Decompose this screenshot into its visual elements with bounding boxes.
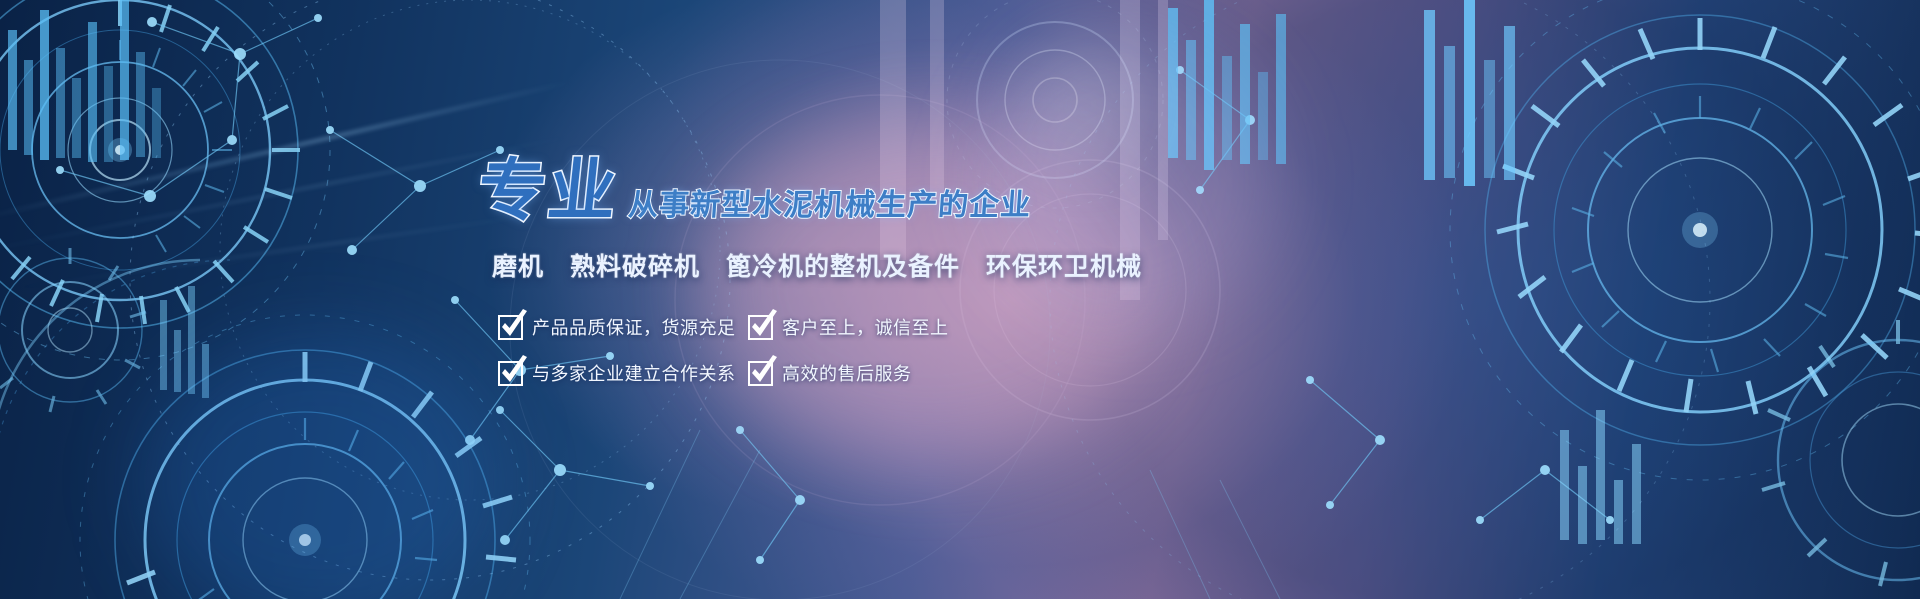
hero-banner: 专业 从事新型水泥机械生产的企业 磨机 熟料破碎机 篦冷机的整机及备件 环保环卫… [0, 0, 1920, 599]
check-icon [748, 315, 773, 340]
arc-band-bottom-left [0, 260, 230, 500]
banner-content: 专业 从事新型水泥机械生产的企业 磨机 熟料破碎机 篦冷机的整机及备件 环保环卫… [478, 152, 1098, 386]
feature-label: 与多家企业建立合作关系 [532, 360, 736, 386]
feature-label: 产品品质保证，货源充足 [532, 314, 736, 340]
bar-stripes-left [8, 0, 209, 398]
gear-ring-graphic-upper-left [0, 248, 146, 412]
headline: 专业 从事新型水泥机械生产的企业 [478, 152, 1098, 226]
gear-ring-graphic-bottom [80, 315, 530, 599]
products-line: 磨机 熟料破碎机 篦冷机的整机及备件 环保环卫机械 [492, 250, 1098, 284]
check-icon [498, 361, 523, 386]
feature-list: 产品品质保证，货源充足 客户至上，诚信至上 与多家企业建立合作关系 [498, 314, 1098, 386]
feature-item: 客户至上，诚信至上 [748, 314, 1098, 340]
grid-lines-graphic [620, 430, 1280, 599]
check-icon [498, 315, 523, 340]
feature-item: 与多家企业建立合作关系 [498, 360, 748, 386]
gear-ring-graphic-far-right [1762, 320, 1920, 586]
feature-label: 高效的售后服务 [782, 360, 912, 386]
feature-item: 产品品质保证，货源充足 [498, 314, 748, 340]
bar-stripes-right [1168, 0, 1641, 544]
headline-emphasis: 专业 [474, 158, 621, 226]
feature-label: 客户至上，诚信至上 [782, 314, 949, 340]
feature-item: 高效的售后服务 [748, 360, 1098, 386]
check-icon [748, 361, 773, 386]
gear-ring-graphic-right [1450, 0, 1920, 480]
headline-rest: 从事新型水泥机械生产的企业 [627, 191, 1032, 226]
